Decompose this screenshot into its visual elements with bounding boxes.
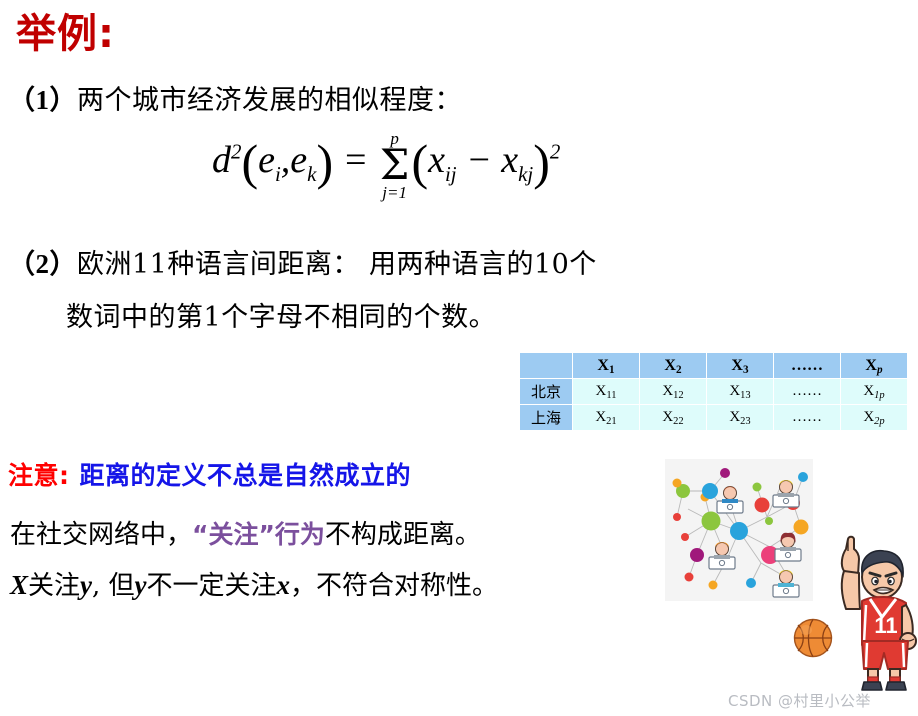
- table-cell-ellipsis: ……: [774, 405, 841, 431]
- statement-2-x: X: [10, 570, 28, 600]
- network-node: [753, 483, 762, 492]
- cell-sub: 2p: [874, 416, 885, 427]
- table-cell: X13: [707, 379, 774, 405]
- col-header-sub: 2: [676, 364, 682, 376]
- cell-base: X: [863, 383, 874, 399]
- csdn-watermark: CSDN @村里小公举: [728, 690, 871, 711]
- slide-canvas: 举例: （1）两个城市经济发展的相似程度： d2(ei,ek) = p Σ j=…: [0, 0, 918, 716]
- list-item-1: （1）两个城市经济发展的相似程度：: [8, 82, 462, 119]
- formula-e1: e: [258, 139, 275, 181]
- cell-base: X: [596, 383, 607, 399]
- network-graph-svg: [665, 459, 813, 601]
- table-col-header-p: Xp: [841, 353, 908, 379]
- player-svg: 11: [826, 535, 918, 695]
- statement-1-highlight: “关注”行为: [192, 520, 325, 549]
- table-corner-cell: [520, 353, 573, 379]
- formula-rhs-close-paren: ): [533, 134, 550, 190]
- network-node: [702, 512, 721, 531]
- formula-equals: =: [343, 139, 369, 181]
- statement-line-1: 在社交网络中，“关注”行为不构成距离。: [10, 518, 481, 552]
- cell-sub: 23: [740, 416, 751, 427]
- formula-close-paren: ): [316, 134, 333, 190]
- statement-2-y2: y: [135, 570, 147, 600]
- table-col-header-3: X3: [707, 353, 774, 379]
- table-col-header-2: X2: [640, 353, 707, 379]
- table-row-header-shanghai: 上海: [520, 405, 573, 431]
- list-item-1-label: （1）: [8, 85, 77, 115]
- statement-1-part1: 在社交网络中，: [10, 520, 192, 550]
- list-item-1-text: 两个城市经济发展的相似程度：: [77, 85, 462, 116]
- network-node: [720, 468, 730, 478]
- network-node: [765, 517, 773, 525]
- list-item-2-text-line1: 欧洲11种语言间距离： 用两种语言的10个: [77, 249, 597, 280]
- statement-1-part2: 不构成距离。: [325, 520, 481, 550]
- network-node: [685, 573, 694, 582]
- col-header-base: X: [865, 357, 877, 374]
- basketball-player-illustration: 11: [826, 535, 918, 695]
- cell-sub: 21: [606, 416, 617, 427]
- network-node: [746, 578, 756, 588]
- col-header-base: X: [731, 357, 743, 374]
- formula-open-paren: (: [241, 134, 258, 190]
- cell-base: X: [729, 409, 740, 425]
- table-col-header-ellipsis: ……: [774, 353, 841, 379]
- table-cell: X1p: [841, 379, 908, 405]
- formula-summation: p Σ j=1: [380, 130, 410, 201]
- table-cell: X22: [640, 405, 707, 431]
- network-node: [690, 548, 704, 562]
- variable-matrix-table: X1 X2 X3 …… Xp 北京 X11 X12 X13 …… X1p 上海 …: [519, 352, 908, 431]
- cell-sub: 13: [740, 390, 751, 401]
- cell-base: X: [863, 409, 874, 425]
- network-node: [755, 498, 770, 513]
- formula-rhs-open-paren: (: [411, 134, 428, 190]
- col-header-sub: 3: [743, 364, 749, 376]
- notice-text: 距离的定义不总是自然成立的: [80, 461, 412, 490]
- formula-e2: e: [290, 139, 307, 181]
- cell-base: X: [662, 409, 673, 425]
- network-node: [673, 479, 682, 488]
- network-node: [681, 533, 689, 541]
- statement-2-part4: ，不符合对称性。: [290, 571, 498, 601]
- table-cell: X11: [573, 379, 640, 405]
- cell-sub: 12: [673, 390, 684, 401]
- formula-x1: x: [428, 139, 445, 181]
- col-header-sub: 1: [609, 364, 615, 376]
- list-item-2-continued: 数词中的第1个字母不相同的个数。: [66, 300, 496, 336]
- formula-x1-sub: ij: [445, 162, 457, 186]
- table-col-header-1: X1: [573, 353, 640, 379]
- col-header-base: X: [597, 357, 609, 374]
- network-node: [702, 483, 718, 499]
- sigma-icon: Σ: [380, 145, 410, 185]
- statement-2-y: y: [80, 570, 92, 600]
- statement-line-2: X关注y, 但y不一定关注x，不符合对称性。: [10, 568, 498, 603]
- table-cell-ellipsis: ……: [774, 379, 841, 405]
- network-node: [798, 472, 808, 482]
- distance-formula: d2(ei,ek) = p Σ j=1 (xij − xkj)2: [212, 128, 560, 199]
- cell-sub: 11: [606, 390, 616, 401]
- formula-d-exponent: 2: [231, 140, 241, 164]
- formula-x2-sub: kj: [518, 162, 533, 186]
- statement-2-part1: 关注: [28, 571, 80, 601]
- network-node: [730, 522, 748, 540]
- formula-rhs-exponent: 2: [550, 140, 560, 164]
- formula-minus: −: [466, 139, 492, 181]
- table-cell: X2p: [841, 405, 908, 431]
- network-node: [673, 513, 681, 521]
- statement-2-part2: , 但: [92, 571, 135, 601]
- list-item-2: （2）欧洲11种语言间距离： 用两种语言的10个: [8, 246, 597, 283]
- notice-line: 注意:距离的定义不总是自然成立的: [8, 460, 411, 492]
- table-cell: X21: [573, 405, 640, 431]
- table-cell: X23: [707, 405, 774, 431]
- jersey-number: 11: [874, 613, 897, 638]
- cell-sub: 22: [673, 416, 684, 427]
- network-node: [709, 581, 718, 590]
- formula-comma: ,: [281, 139, 291, 181]
- statement-2-x2: x: [277, 570, 291, 600]
- formula-d: d: [212, 139, 231, 181]
- table-row: 上海 X21 X22 X23 …… X2p: [520, 405, 908, 431]
- col-header-sub: p: [877, 364, 883, 376]
- table-row: 北京 X11 X12 X13 …… X1p: [520, 379, 908, 405]
- page-title: 举例:: [16, 8, 115, 60]
- col-header-base: X: [664, 357, 676, 374]
- cell-sub: 1p: [874, 390, 885, 401]
- table-row-header-beijing: 北京: [520, 379, 573, 405]
- social-network-illustration: [665, 459, 813, 601]
- summation-lower-limit: j=1: [380, 184, 410, 201]
- table-body: X1 X2 X3 …… Xp 北京 X11 X12 X13 …… X1p 上海 …: [520, 353, 908, 431]
- cell-base: X: [595, 409, 606, 425]
- formula-x2: x: [501, 139, 518, 181]
- statement-2-part3: 不一定关注: [147, 571, 277, 601]
- table-header-row: X1 X2 X3 …… Xp: [520, 353, 908, 379]
- table-cell: X12: [640, 379, 707, 405]
- cell-base: X: [729, 383, 740, 399]
- list-item-2-label: （2）: [8, 249, 77, 279]
- network-node: [794, 520, 809, 535]
- cell-base: X: [662, 383, 673, 399]
- notice-label: 注意:: [8, 461, 70, 490]
